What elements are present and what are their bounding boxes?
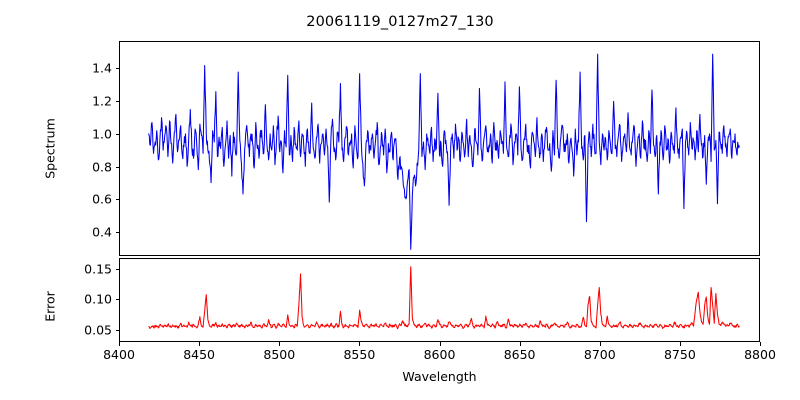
error-ytick-label: 0.10 <box>72 292 112 307</box>
error-ytick-label: 0.05 <box>72 322 112 337</box>
spectrum-ytick-label: 0.8 <box>72 159 112 174</box>
xtick-mark <box>359 342 360 346</box>
xtick-label: 8700 <box>565 347 635 362</box>
xtick-label: 8550 <box>324 347 394 362</box>
x-axis-label: Wavelength <box>119 369 760 384</box>
xtick-label: 8400 <box>84 347 154 362</box>
error-ytick-mark <box>116 269 120 270</box>
error-y-axis-label: Error <box>43 248 58 366</box>
spectrum-ytick-label: 0.4 <box>72 225 112 240</box>
matplotlib-figure: 20061119_0127m27_130 Spectrum Error 0.40… <box>0 0 800 400</box>
spectrum-ytick-mark <box>116 167 120 168</box>
spectrum-axes <box>119 41 760 256</box>
spectrum-ytick-label: 1.0 <box>72 126 112 141</box>
error-plot-area <box>120 259 759 341</box>
error-axes <box>119 258 760 342</box>
xtick-label: 8800 <box>725 347 795 362</box>
spectrum-ytick-label: 0.6 <box>72 192 112 207</box>
xtick-label: 8500 <box>244 347 314 362</box>
xtick-label: 8450 <box>164 347 234 362</box>
spectrum-ytick-mark <box>116 199 120 200</box>
error-ytick-mark <box>116 299 120 300</box>
xtick-mark <box>680 342 681 346</box>
spectrum-ytick-label: 1.2 <box>72 93 112 108</box>
xtick-mark <box>199 342 200 346</box>
xtick-mark <box>600 342 601 346</box>
figure-title: 20061119_0127m27_130 <box>0 14 800 30</box>
xtick-label: 8600 <box>405 347 475 362</box>
spectrum-ytick-label: 1.4 <box>72 61 112 76</box>
xtick-label: 8750 <box>645 347 715 362</box>
spectrum-ytick-mark <box>116 68 120 69</box>
xtick-label: 8650 <box>485 347 555 362</box>
xtick-mark <box>119 342 120 346</box>
xtick-mark <box>520 342 521 346</box>
xtick-mark <box>440 342 441 346</box>
error-data-line <box>149 267 740 329</box>
xtick-mark <box>279 342 280 346</box>
spectrum-plot-area <box>120 42 759 255</box>
spectrum-ytick-mark <box>116 232 120 233</box>
spectrum-ytick-mark <box>116 134 120 135</box>
spectrum-data-line <box>149 54 740 249</box>
spectrum-ytick-mark <box>116 101 120 102</box>
error-ytick-mark <box>116 330 120 331</box>
spectrum-y-axis-label: Spectrum <box>43 79 58 219</box>
xtick-mark <box>760 342 761 346</box>
error-ytick-label: 0.15 <box>72 262 112 277</box>
